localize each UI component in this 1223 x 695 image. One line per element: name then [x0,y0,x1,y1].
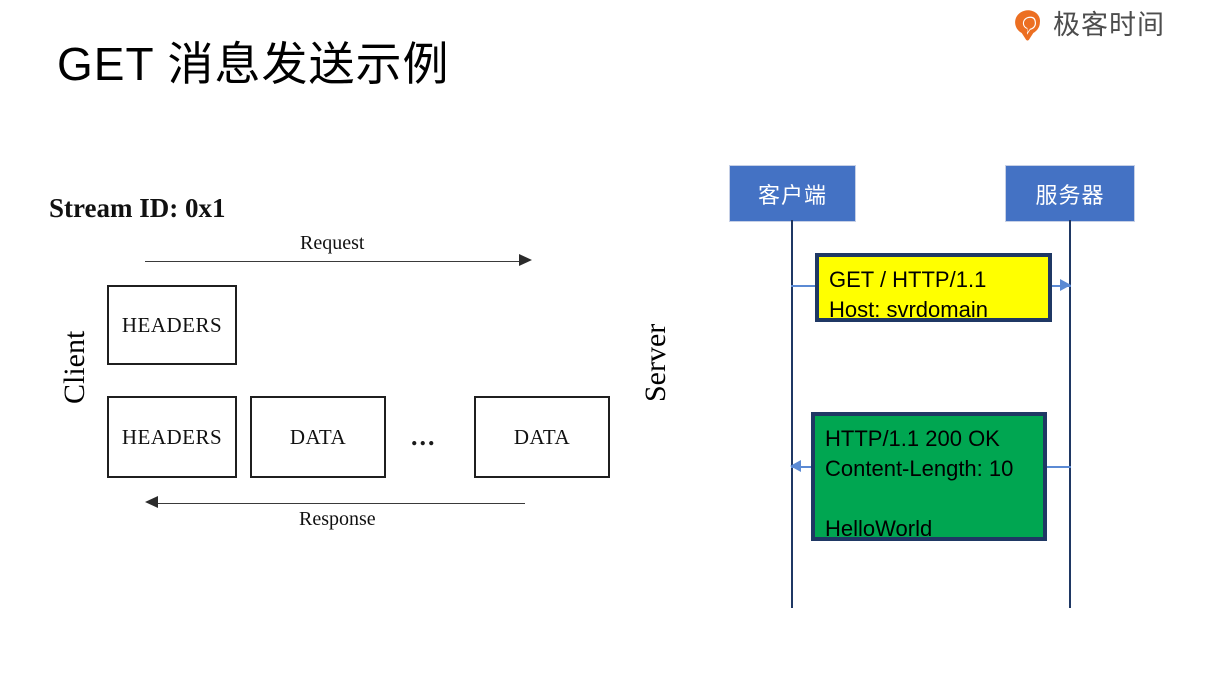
actor-server: 服务器 [1005,165,1135,222]
note-request: GET / HTTP/1.1 Host: svrdomain [815,253,1052,322]
sequence-diagram: 客户端 服务器 GET / HTTP/1.1 Host: svrdomain H… [0,0,1223,695]
message-arrowhead-request-icon [1060,279,1071,291]
lifeline-client [791,220,793,608]
slide-canvas: 极客时间 GET 消息发送示例 Stream ID: 0x1 Client Se… [0,0,1223,695]
actor-client: 客户端 [729,165,856,222]
note-response: HTTP/1.1 200 OK Content-Length: 10 Hello… [811,412,1047,541]
message-arrowhead-response-icon [790,460,801,472]
